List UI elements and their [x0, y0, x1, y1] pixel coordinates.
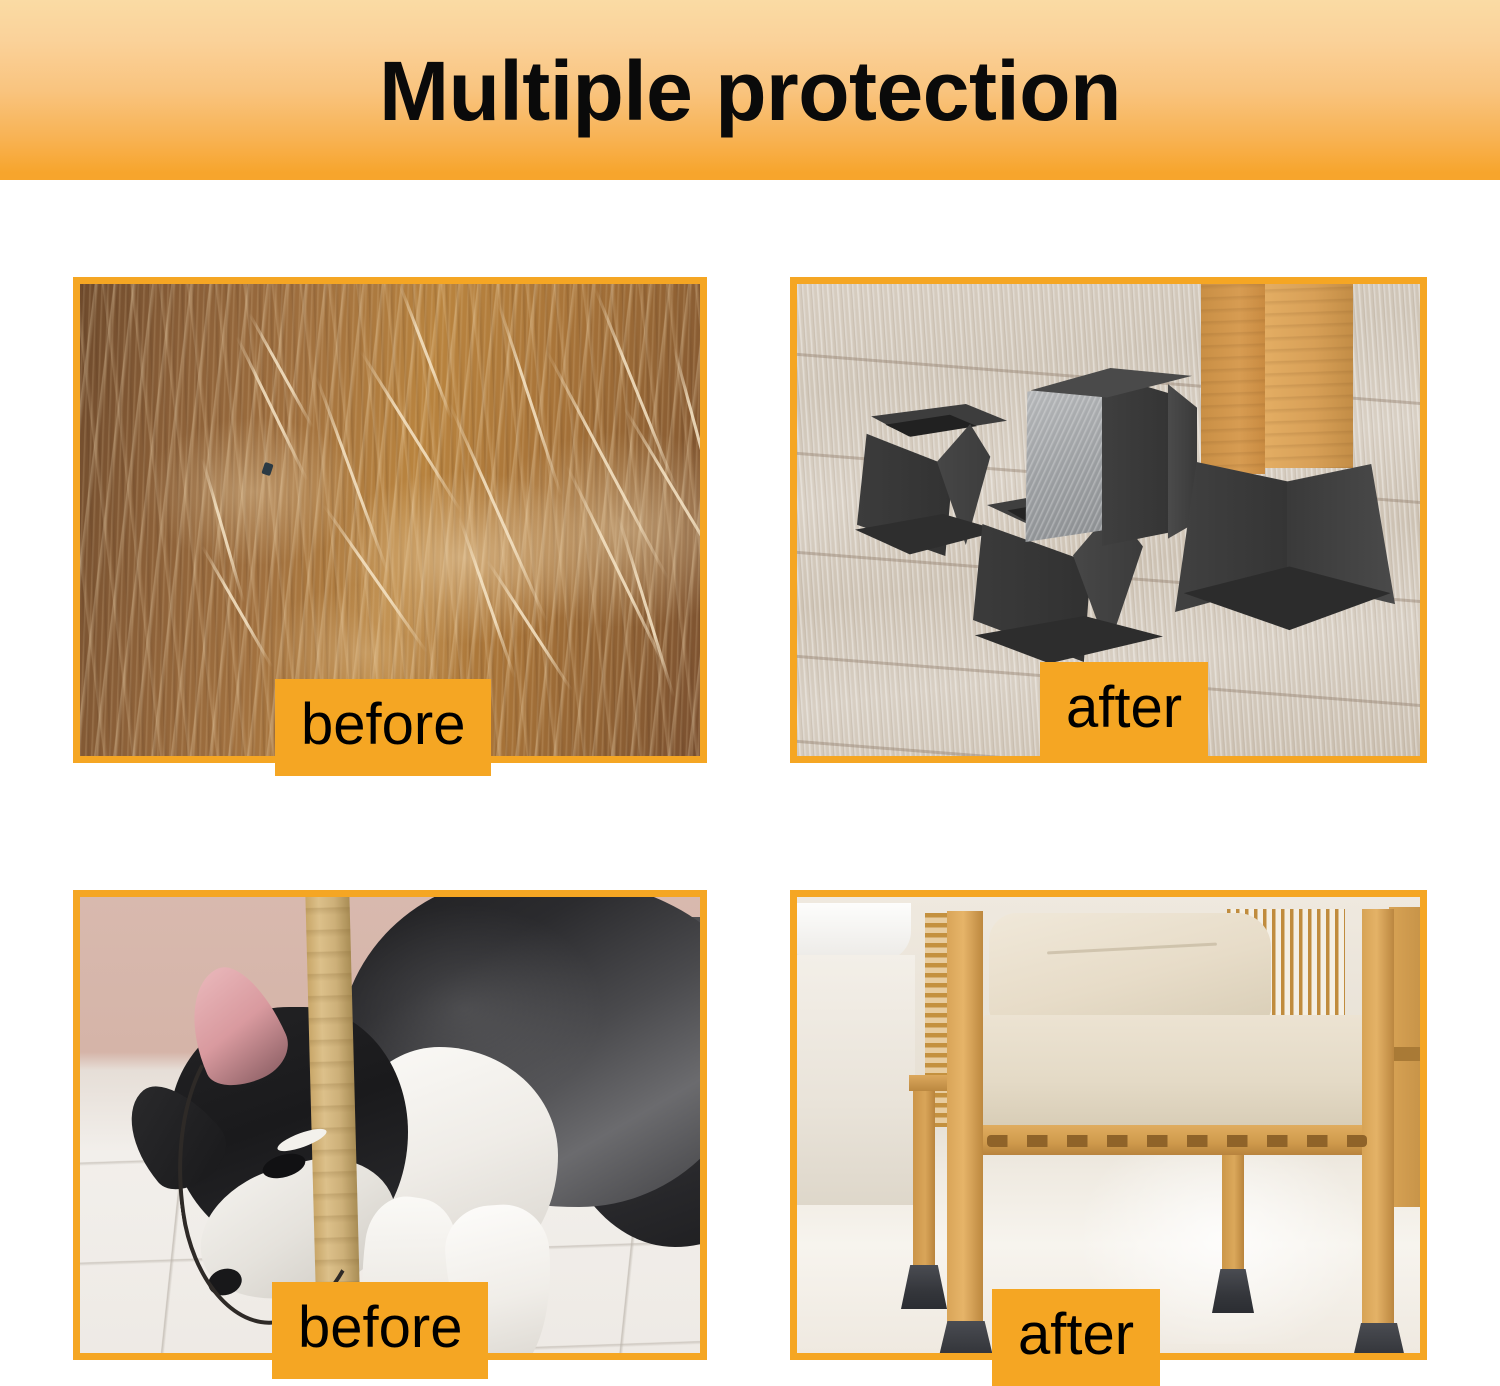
bench-rear-left-leg	[913, 1075, 935, 1275]
badge-after-bottom-right: after	[992, 1289, 1160, 1386]
bench-with-caps-photo	[797, 897, 1420, 1353]
comparison-panel-bottom-left: before	[73, 890, 707, 1360]
badge-after-top-right: after	[1040, 662, 1208, 759]
header-banner: Multiple protection	[0, 0, 1500, 180]
bathtub-edge	[797, 903, 911, 961]
bench-front-right-leg	[1362, 909, 1394, 1339]
bathtub-panel	[797, 955, 915, 1205]
seat-cushion	[983, 1015, 1373, 1135]
comparison-panel-top-right: after	[790, 277, 1427, 763]
felt-pad	[1022, 382, 1110, 542]
back-cushion	[989, 913, 1271, 1023]
badge-before-top-left: before	[275, 679, 491, 776]
badge-before-bottom-left: before	[272, 1282, 488, 1379]
wooden-table-leg	[1201, 284, 1353, 478]
bench-rear-right-leg	[1222, 1137, 1244, 1277]
comparison-panel-bottom-right: after	[790, 890, 1427, 1360]
bench-apron-slots	[987, 1135, 1367, 1147]
leg-cap-with-felt-pad	[1022, 360, 1197, 565]
wood-grain	[1265, 284, 1353, 468]
wood-grain	[1201, 284, 1265, 474]
table-leg-left-face	[1201, 284, 1265, 474]
page-title: Multiple protection	[379, 49, 1121, 133]
leg-cap-mounted-on-table-leg	[1175, 462, 1395, 640]
comparison-panel-top-left: before	[73, 277, 707, 763]
bench-front-left-leg	[947, 911, 983, 1331]
table-leg-right-face	[1265, 284, 1353, 468]
